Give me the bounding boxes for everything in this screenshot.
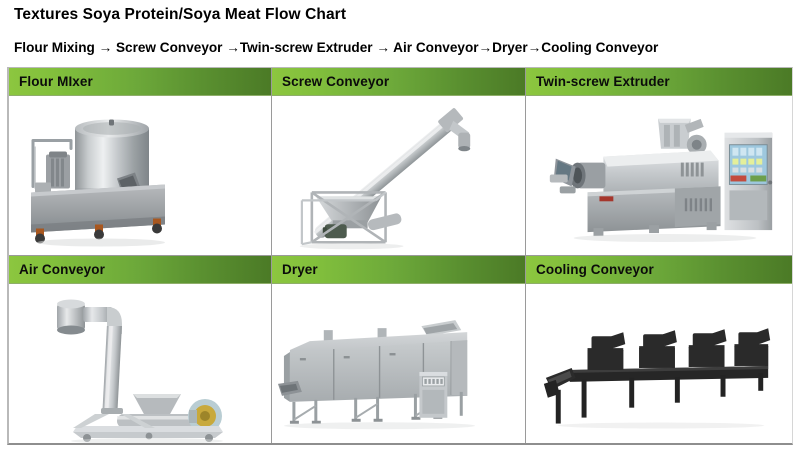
page-title: Textures Soya Protein/Soya Meat Flow Cha… (14, 6, 346, 24)
cell-header-label: Dryer (282, 262, 318, 277)
cell-header-label: Screw Conveyor (282, 74, 389, 89)
cell-image-twin-screw-extruder (526, 96, 792, 255)
cell-image-screw-conveyor (272, 96, 525, 255)
cell-header-dryer: Dryer (272, 256, 525, 284)
cell-header-label: Flour MIxer (19, 74, 93, 89)
cell-image-air-conveyor (9, 284, 271, 443)
dryer-photo (272, 284, 525, 443)
process-flow-text: Flour Mixing → Screw Conveyor →Twin-scre… (14, 40, 658, 55)
cell-header-label: Twin-screw Extruder (536, 74, 670, 89)
cell-twin-screw-extruder[interactable]: Twin-screw Extruder (525, 68, 792, 255)
flour-mixer-photo (9, 96, 271, 255)
screw-conveyor-photo (272, 96, 525, 255)
cooling-conveyor-photo (526, 284, 792, 443)
cell-image-cooling-conveyor (526, 284, 792, 443)
cell-image-dryer (272, 284, 525, 443)
machine-grid-table: Flour MIxer (7, 67, 793, 445)
cell-header-air-conveyor: Air Conveyor (9, 256, 271, 284)
cell-header-label: Cooling Conveyor (536, 262, 654, 277)
cell-header-cooling-conveyor: Cooling Conveyor (526, 256, 792, 284)
twin-screw-extruder-photo (526, 96, 792, 255)
cell-screw-conveyor[interactable]: Screw Conveyor (271, 68, 525, 255)
cell-image-flour-mixer (9, 96, 271, 255)
table-row: Air Conveyor (9, 256, 792, 443)
air-conveyor-photo (9, 284, 271, 443)
cell-air-conveyor[interactable]: Air Conveyor (9, 256, 271, 443)
cell-dryer[interactable]: Dryer (271, 256, 525, 443)
cell-header-screw-conveyor: Screw Conveyor (272, 68, 525, 96)
table-row: Flour MIxer (9, 68, 792, 256)
cell-cooling-conveyor[interactable]: Cooling Conveyor (525, 256, 792, 443)
cell-header-label: Air Conveyor (19, 262, 105, 277)
cell-header-twin-screw-extruder: Twin-screw Extruder (526, 68, 792, 96)
cell-header-flour-mixer: Flour MIxer (9, 68, 271, 96)
flow-chart-page: Textures Soya Protein/Soya Meat Flow Cha… (0, 0, 800, 452)
cell-flour-mixer[interactable]: Flour MIxer (9, 68, 271, 255)
